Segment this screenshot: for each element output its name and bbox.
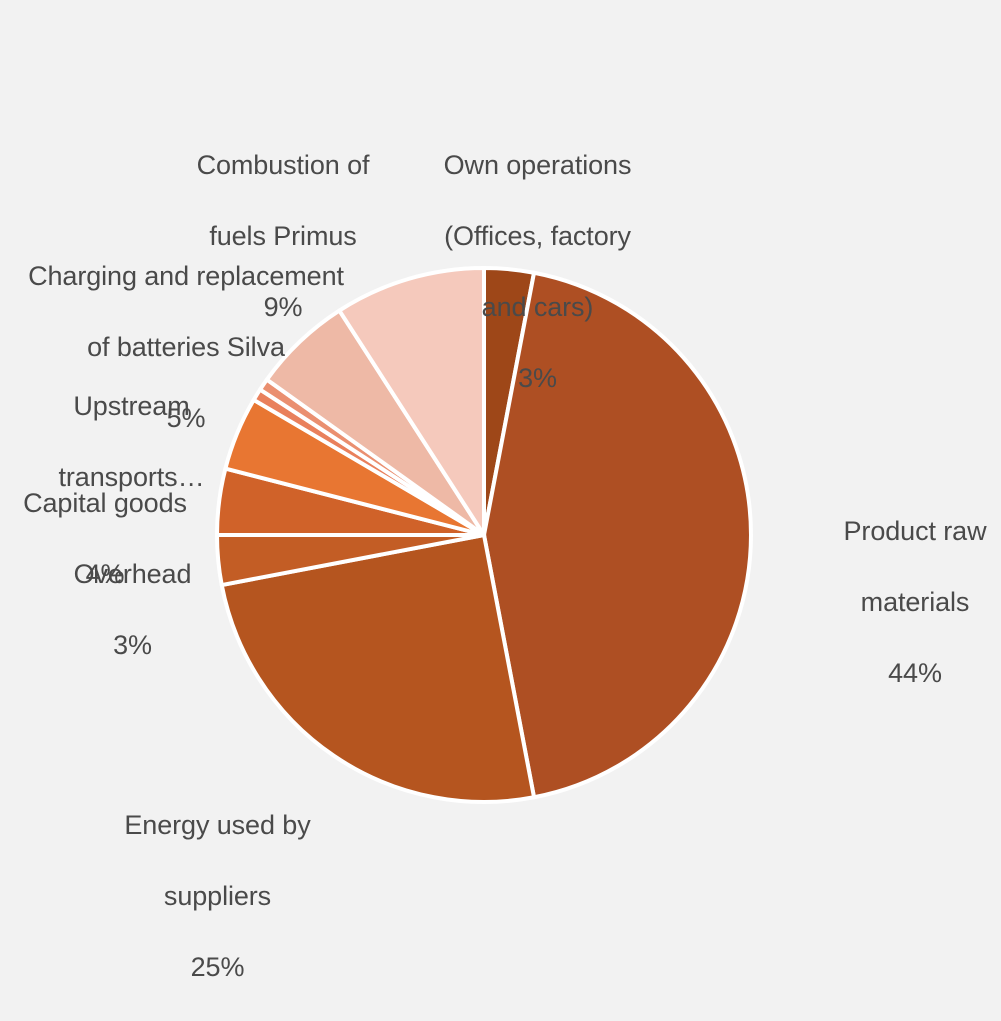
- slice-label-line: suppliers: [100, 879, 335, 915]
- slice-label-product-raw-materials: Product raw materials 44%: [812, 478, 1001, 727]
- slice-label-energy-used-by-suppliers: Energy used by suppliers 25%: [100, 772, 335, 1021]
- slice-label-line: Own operations: [400, 148, 675, 184]
- slice-label-line: Product raw: [812, 514, 1001, 550]
- slice-label-line: Capital goods: [0, 486, 210, 522]
- pie-chart-figure: Own operations (Offices, factory and car…: [0, 0, 1001, 1000]
- slice-label-line: materials: [812, 585, 1001, 621]
- slice-label-percent: 3%: [400, 361, 675, 397]
- slice-label-line: (Offices, factory: [400, 219, 675, 255]
- slice-label-line: Charging and replacement: [0, 259, 372, 295]
- slice-label-line: Combustion of: [152, 148, 414, 184]
- slice-label-line: Energy used by: [100, 808, 335, 844]
- slice-label-percent: 44%: [812, 656, 1001, 692]
- slice-label-line: and cars): [400, 290, 675, 326]
- slice-label-line: Overhead: [20, 557, 245, 593]
- slice-label-percent: 3%: [20, 628, 245, 664]
- slice-label-line: Upstream: [14, 389, 249, 425]
- slice-label-own-operations: Own operations (Offices, factory and car…: [400, 112, 675, 432]
- slice-label-percent: 25%: [100, 950, 335, 986]
- slice-label-overhead: Overhead 3%: [20, 521, 245, 699]
